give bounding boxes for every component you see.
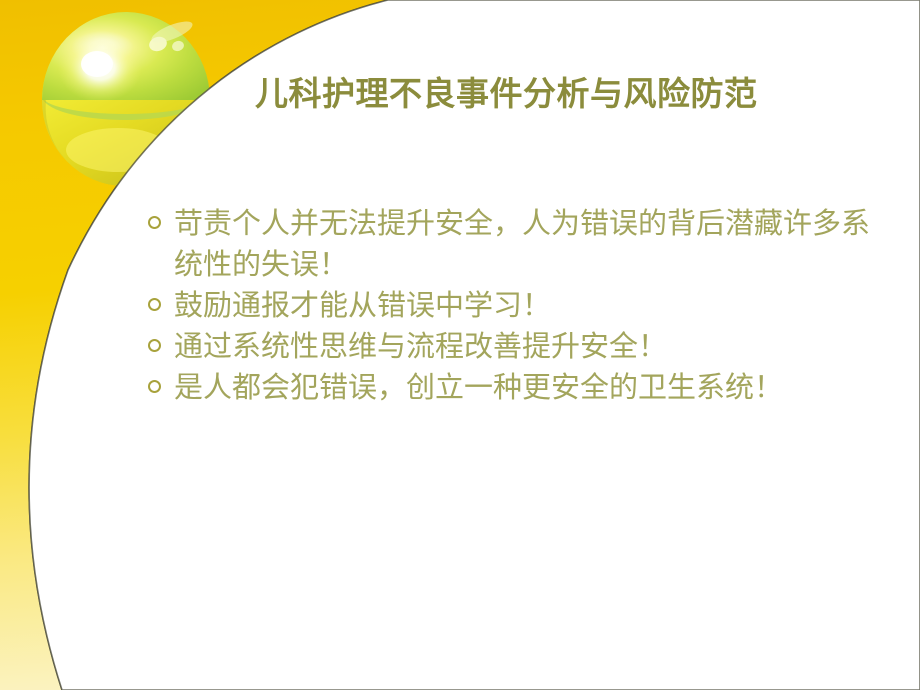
- slide-title-text: 儿科护理不良事件分析与风险防范: [255, 75, 758, 113]
- hollow-circle-bullet-icon: [148, 339, 161, 352]
- list-item: 是人都会犯错误，创立一种更安全的卫生系统！: [148, 367, 893, 408]
- list-item: 通过系统性思维与流程改善提升安全！: [148, 326, 893, 367]
- bullet-list: 苛责个人并无法提升安全，人为错误的背后潜藏许多系统性的失误！ 鼓励通报才能从错误…: [148, 203, 893, 408]
- list-item: 苛责个人并无法提升安全，人为错误的背后潜藏许多系统性的失误！: [148, 203, 893, 285]
- list-item-text: 苛责个人并无法提升安全，人为错误的背后潜藏许多系统性的失误！: [174, 203, 893, 285]
- hollow-circle-bullet-icon: [148, 216, 161, 229]
- hollow-circle-bullet-icon: [148, 298, 161, 311]
- list-item: 鼓励通报才能从错误中学习！: [148, 285, 893, 326]
- list-item-text: 通过系统性思维与流程改善提升安全！: [174, 326, 893, 367]
- presentation-slide: 儿科护理不良事件分析与风险防范 苛责个人并无法提升安全，人为错误的背后潜藏许多系…: [0, 0, 920, 690]
- list-item-text: 鼓励通报才能从错误中学习！: [174, 285, 893, 326]
- slide-title: 儿科护理不良事件分析与风险防范: [255, 66, 895, 122]
- hollow-circle-bullet-icon: [148, 380, 161, 393]
- list-item-text: 是人都会犯错误，创立一种更安全的卫生系统！: [174, 367, 893, 408]
